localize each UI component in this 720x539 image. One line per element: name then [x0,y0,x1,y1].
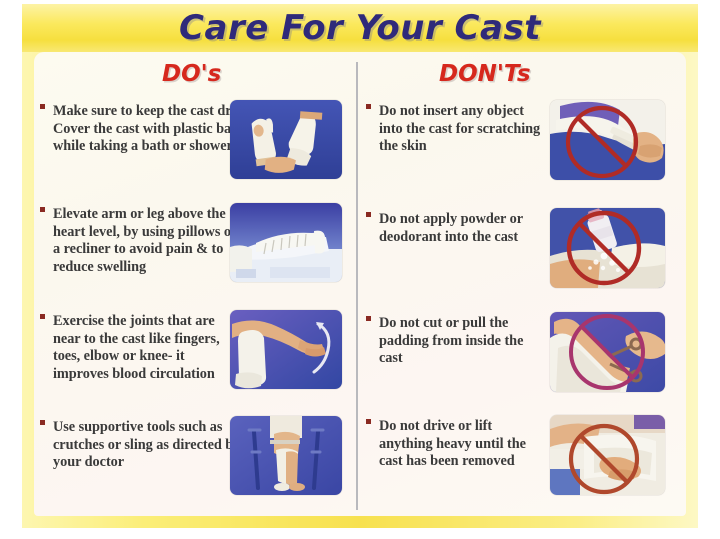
list-item: Make sure to keep the cast dry. Cover th… [34,98,356,201]
leg-cast-toe-exercise-photo [230,310,342,389]
list-item: Do not insert any object into the cast f… [360,98,686,206]
column-divider [356,62,358,510]
list-item: Do not apply powder or deodorant into th… [360,206,686,310]
content-card: DO's DON'Ts Make sure to keep the cast d… [34,52,686,516]
dos-item-text: Use supportive tools such as crutches or… [34,414,243,472]
list-item: Use supportive tools such as crutches or… [34,414,356,514]
list-item: Do not cut or pull the padding from insi… [360,310,686,413]
list-item: Do not drive or lift anything heavy unti… [360,413,686,513]
donts-column: Do not insert any object into the cast f… [360,98,686,513]
dos-item-text: Make sure to keep the cast dry. Cover th… [34,98,243,156]
elevated-leg-on-pillows-photo [230,203,342,282]
person-walking-with-crutches-photo [230,416,342,495]
donts-item-text: Do not insert any object into the cast f… [360,98,549,156]
powder-bottle-into-cast-prohibited-photo [550,208,665,288]
column-header-donts: DON'Ts [439,61,531,87]
object-inserted-into-cast-prohibited-photo [550,100,665,180]
dos-item-text: Exercise the joints that are near to the… [34,308,243,383]
arm-and-leg-casts-photo [230,100,342,179]
dos-item-text: Elevate arm or leg above the heart level… [34,201,243,276]
title-banner: Care For Your Cast [22,4,698,52]
cast-care-infographic: Care For Your Cast DO's DON'Ts Make sure… [0,0,720,539]
list-item: Elevate arm or leg above the heart level… [34,201,356,308]
page-title: Care For Your Cast [179,8,541,48]
column-header-dos: DO's [162,61,221,87]
scissors-cutting-cast-padding-prohibited-photo [550,312,665,392]
dos-column: Make sure to keep the cast dry. Cover th… [34,98,356,514]
driving-with-cast-prohibited-photo [550,415,665,495]
list-item: Exercise the joints that are near to the… [34,308,356,414]
donts-item-text: Do not apply powder or deodorant into th… [360,206,549,246]
donts-item-text: Do not drive or lift anything heavy unti… [360,413,549,471]
donts-item-text: Do not cut or pull the padding from insi… [360,310,549,368]
